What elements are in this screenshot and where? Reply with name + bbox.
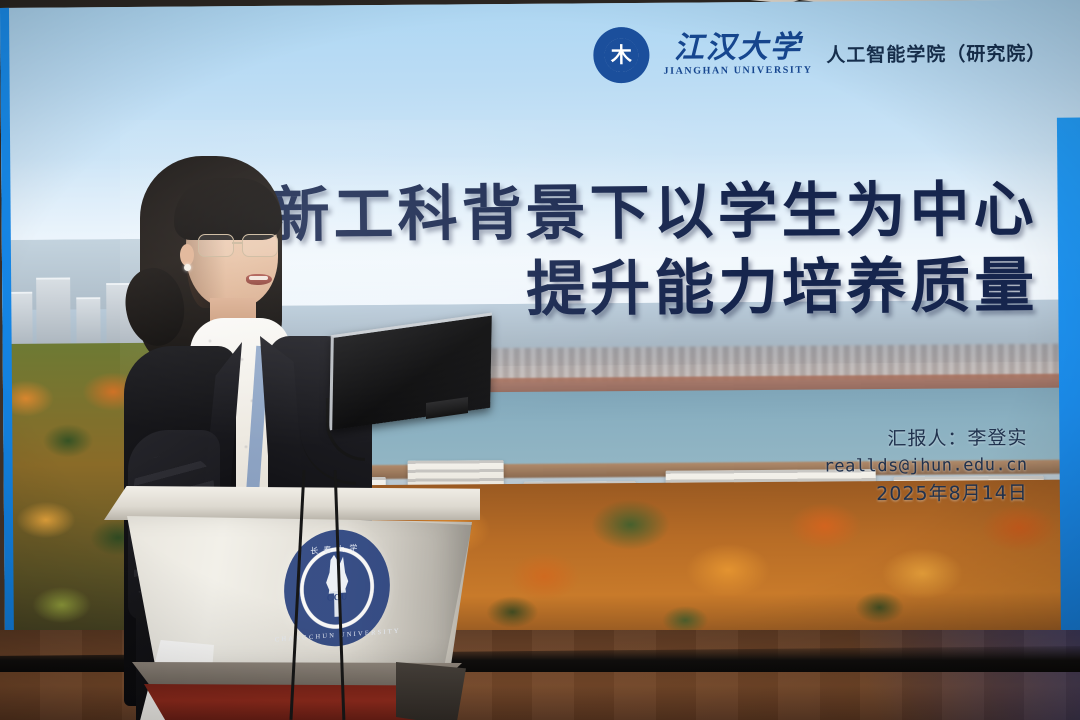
presentation-date: 2025年8月14日: [824, 479, 1028, 509]
university-name-cn: 江汉大学: [674, 32, 802, 63]
jianghan-university-emblem-icon: 木: [593, 27, 649, 83]
glasses-icon: [198, 234, 282, 256]
slide-right-accent-bar: [1057, 118, 1080, 640]
presenter-email: reallds@jhun.edu.cn: [824, 453, 1028, 480]
university-name-block: 江汉大学 JIANGHAN UNIVERSITY: [663, 32, 812, 76]
podium-top: [104, 486, 480, 520]
glasses-bridge: [232, 242, 242, 244]
glasses-lens-left: [198, 234, 234, 257]
ear: [180, 244, 194, 266]
university-name-en: JIANGHAN UNIVERSITY: [663, 65, 812, 76]
emblem-glyph: 木: [604, 38, 638, 72]
earring: [184, 264, 191, 271]
hair-front: [174, 178, 282, 240]
floor-light-glow: [780, 630, 1080, 720]
presenter-info: 汇报人：李登实 reallds@jhun.edu.cn 2025年8月14日: [823, 424, 1028, 509]
college-name: 人工智能学院（研究院）: [826, 38, 1046, 67]
presentation-photo: 木 江汉大学 JIANGHAN UNIVERSITY 人工智能学院（研究院） 新…: [0, 0, 1080, 720]
slide-header-logo-bar: 木 江汉大学 JIANGHAN UNIVERSITY 人工智能学院（研究院）: [593, 24, 1046, 84]
presenter-name: 汇报人：李登实: [823, 424, 1027, 454]
glasses-lens-right: [242, 234, 278, 257]
podium-base-shadow: [396, 662, 466, 720]
